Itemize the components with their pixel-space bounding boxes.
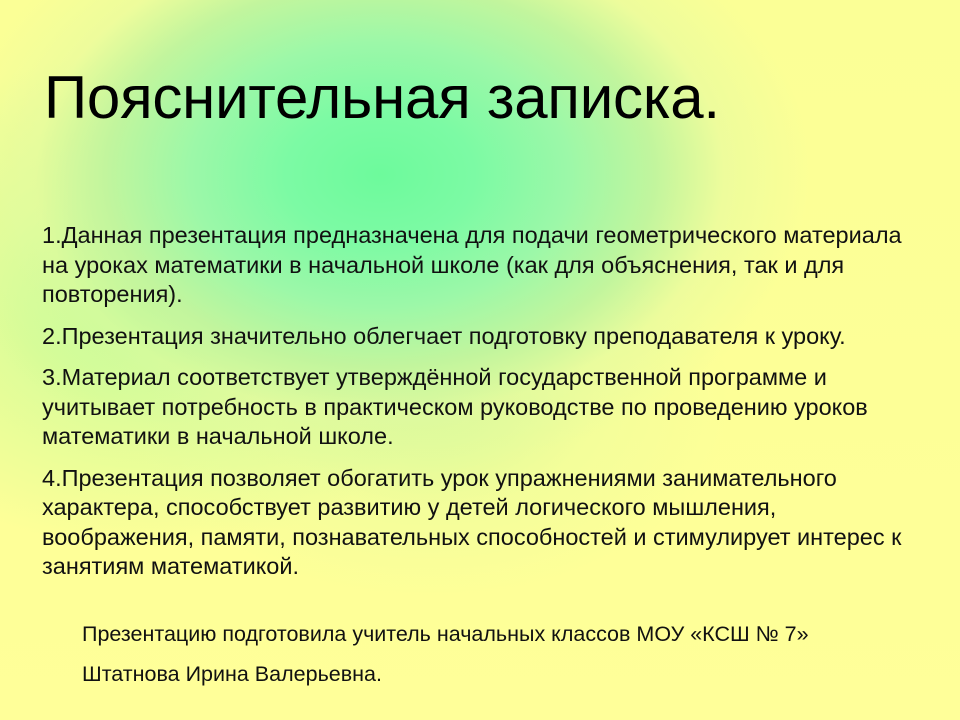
body-text-block: 1.Данная презентация предназначена для п… <box>42 221 902 582</box>
presentation-slide: Пояснительная записка. 1.Данная презента… <box>0 0 960 720</box>
slide-content: Пояснительная записка. 1.Данная презента… <box>0 0 960 720</box>
attribution-line-2: Штатнова Ирина Валерьевна. <box>82 662 922 686</box>
body-paragraph-2: 2.Презентация значительно облегчает подг… <box>42 322 902 352</box>
body-paragraph-3: 3.Материал соответствует утверждённой го… <box>42 363 902 452</box>
author-attribution: Презентацию подготовила учитель начальны… <box>82 622 922 686</box>
attribution-line-1: Презентацию подготовила учитель начальны… <box>82 622 922 646</box>
body-paragraph-4: 4.Презентация позволяет обогатить урок у… <box>42 464 902 582</box>
page-title: Пояснительная записка. <box>44 66 720 131</box>
body-paragraph-1: 1.Данная презентация предназначена для п… <box>42 221 902 310</box>
